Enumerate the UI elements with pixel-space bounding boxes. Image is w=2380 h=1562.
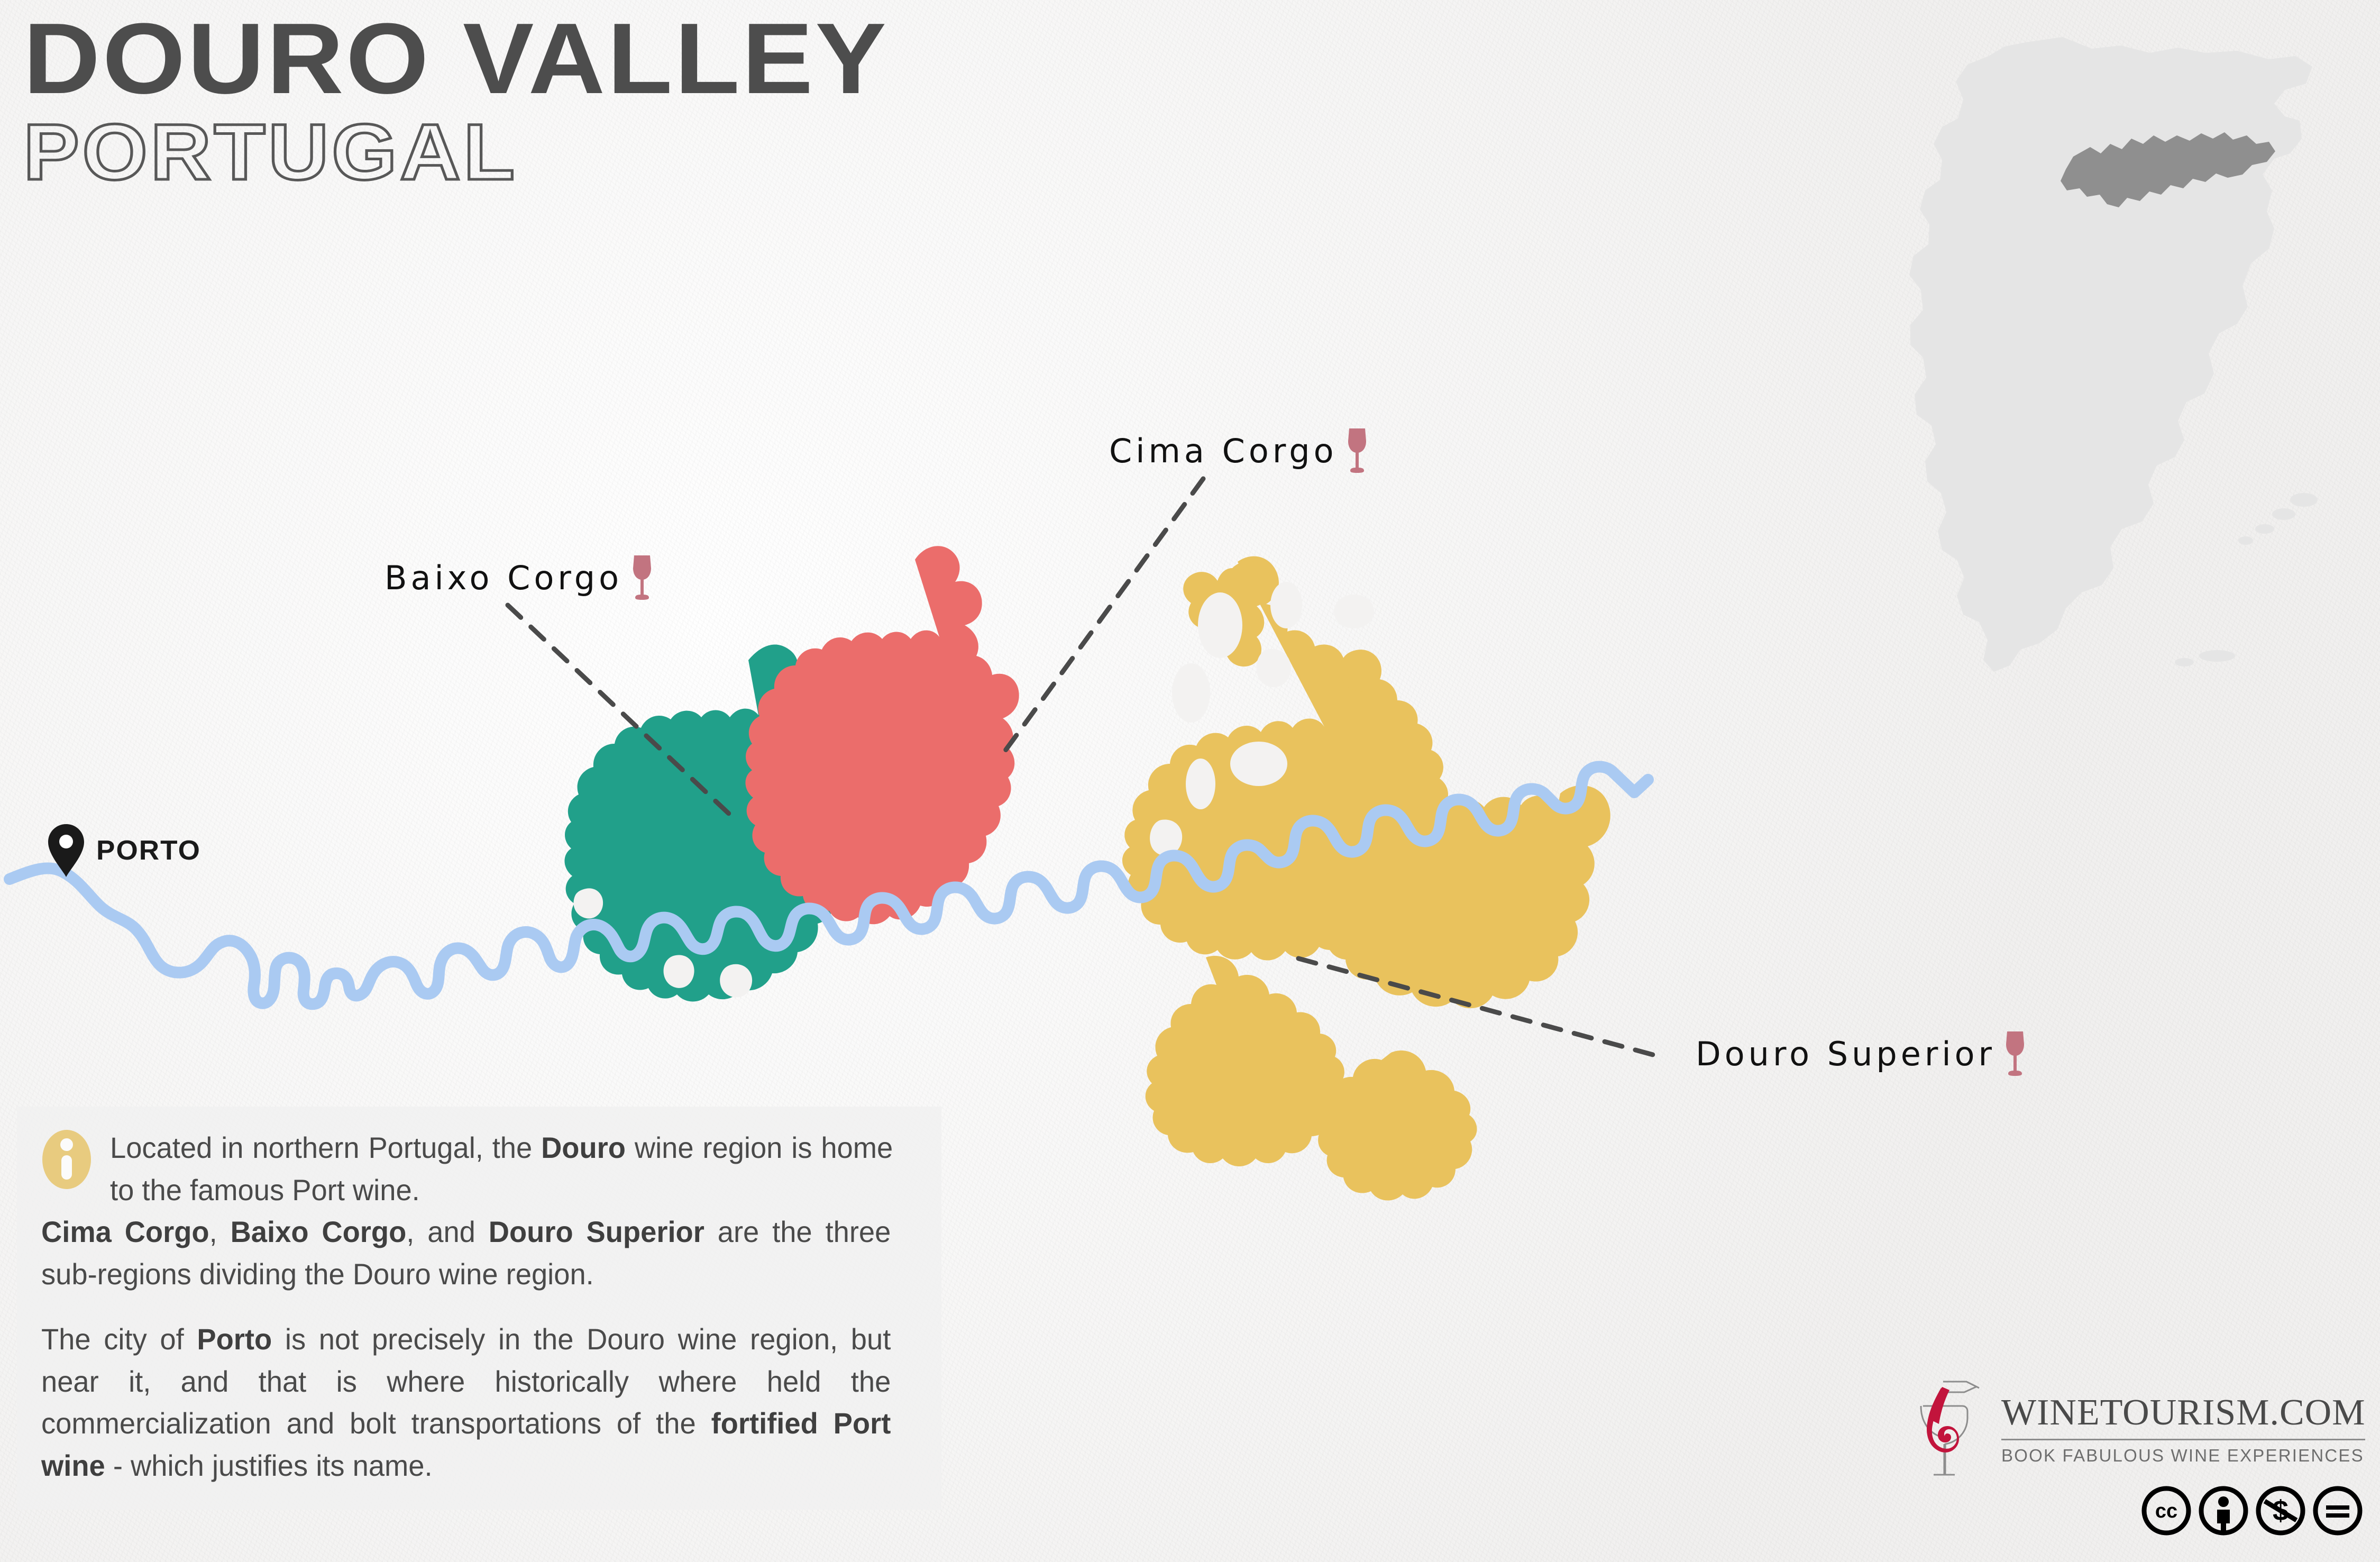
ds-lobe-south [1146, 956, 1344, 1166]
cc-icon[interactable]: cc [2140, 1484, 2193, 1537]
region-cima-corgo[interactable] [745, 546, 1019, 924]
wine-glass-icon [1345, 426, 1369, 475]
info-circle-icon [41, 1129, 92, 1190]
inset-island-1 [2290, 493, 2318, 507]
svg-text:cc: cc [2155, 1500, 2177, 1522]
inset-island-4 [2238, 536, 2253, 545]
logo-name: WINETOURISM.COM [2001, 1394, 2365, 1431]
region-label-douro-superior[interactable]: Douro Superior [1696, 1029, 2027, 1078]
region-baixo-corgo-inlet-south2 [720, 964, 752, 998]
info-paragraph-2: Cima Corgo, Baixo Corgo, and Douro Super… [41, 1211, 891, 1295]
info-panel: Located in northern Portugal, the Douro … [17, 1107, 941, 1510]
inset-island-5 [2199, 650, 2235, 662]
region-baixo-corgo-inlet-south [664, 955, 694, 988]
creative-commons-badges[interactable]: cc $ [2140, 1484, 2364, 1537]
ds-lobe-ne [1340, 650, 1381, 691]
region-label-baixo-corgo-text: Baixo Corgo [385, 559, 623, 597]
wine-glass-logo-icon [1908, 1376, 1988, 1498]
map-pin-icon [47, 823, 86, 878]
infographic-canvas: DOURO VALLEY PORTUGAL [0, 0, 2380, 1562]
winetourism-logo[interactable]: WINETOURISM.COM BOOK FABULOUS WINE EXPER… [1908, 1376, 2365, 1498]
cc-by-icon[interactable] [2197, 1484, 2250, 1537]
logo-divider [2001, 1439, 2365, 1440]
wine-glass-icon [630, 553, 654, 602]
inset-island-2 [2272, 508, 2295, 520]
leader-line-cima-corgo [1005, 479, 1203, 751]
inset-island-3 [2255, 524, 2274, 534]
city-label-porto: PORTO [96, 835, 201, 866]
info-paragraph-3: The city of Porto is not precisely in th… [41, 1318, 891, 1486]
info-paragraph-1: Located in northern Portugal, the Douro … [110, 1127, 893, 1211]
cc-nd-icon[interactable] [2311, 1484, 2364, 1537]
inset-island-6 [2175, 658, 2194, 666]
city-marker-porto[interactable]: PORTO [47, 823, 200, 878]
logo-tagline: BOOK FABULOUS WINE EXPERIENCES [2001, 1447, 2365, 1464]
portugal-inset-map [1909, 37, 2318, 672]
region-label-cima-corgo-text: Cima Corgo [1109, 432, 1338, 470]
wine-glass-icon [2003, 1029, 2027, 1078]
region-label-cima-corgo[interactable]: Cima Corgo [1109, 426, 1369, 475]
cc-nc-icon[interactable]: $ [2254, 1484, 2307, 1537]
region-label-douro-superior-text: Douro Superior [1696, 1035, 1995, 1073]
region-label-baixo-corgo[interactable]: Baixo Corgo [385, 553, 654, 602]
portugal-country-shape [1909, 37, 2312, 672]
